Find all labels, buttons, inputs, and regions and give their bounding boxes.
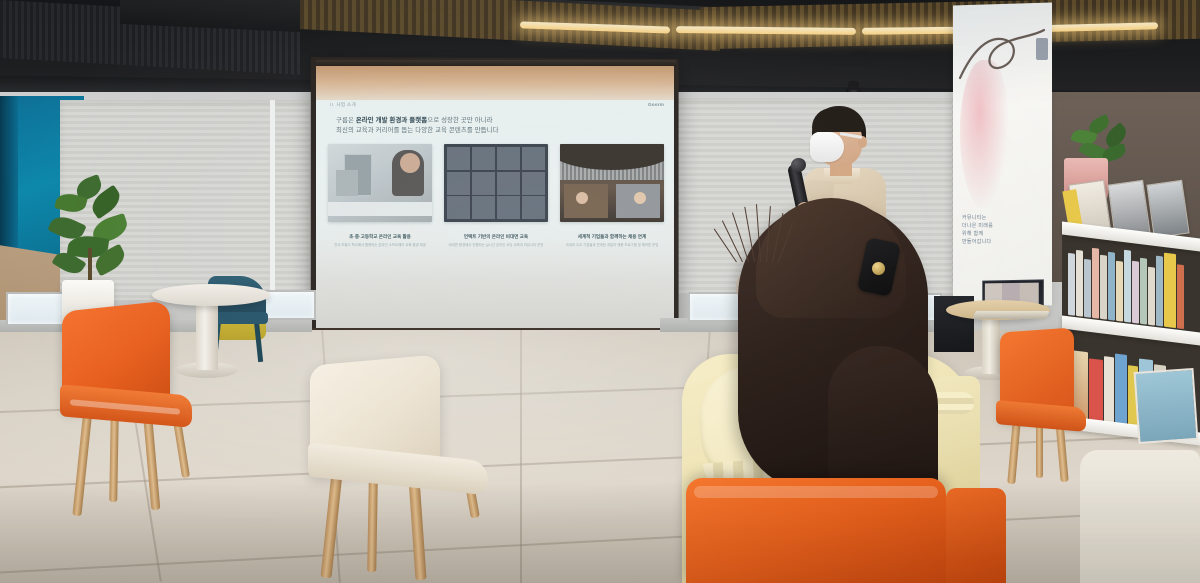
white-sofa — [1080, 450, 1200, 583]
slide-headline-line-2: 최신의 교육과 커리어를 돕는 다양한 교육 콘텐츠를 만듭니다 — [336, 126, 656, 136]
hair-clip-gem — [872, 262, 885, 275]
slide-thumbnail-1 — [328, 144, 432, 222]
round-table-left-top — [152, 284, 270, 306]
slide-caption-1: 초·중·고등학교 온라인 교육 활용 전국 초중고 학교에서 활용되는 온라인 … — [328, 234, 432, 248]
presentation-slide: II. 사업 소개 Goorm 구름은 온라인 개발 환경과 플랫폼으로 성장한… — [318, 96, 672, 282]
chair-leg — [367, 480, 378, 572]
slide-caption-2: 언택트 기반의 온라인 비대면 교육 비대면 환경에서 진행되는 실시간 온라인… — [444, 234, 548, 248]
slide-caption-3: 세계적 기업들과 함께하는 채용 연계 국내외 주요 기업들과 연계한 개발자 … — [560, 234, 664, 248]
orange-chair-foreground-right — [946, 488, 1006, 583]
caption-title: 언택트 기반의 온라인 비대면 교육 — [444, 234, 548, 240]
slide-eyebrow: II. 사업 소개 — [330, 102, 356, 108]
caption-body: 비대면 환경에서 진행되는 실시간 온라인 코딩 교육과 커뮤니티 운영 — [444, 243, 548, 248]
chair-highlight — [694, 486, 938, 498]
headline-pre: 구름은 — [336, 117, 356, 124]
caption-body: 전국 초중고 학교에서 활용되는 온라인 소프트웨어 교육 환경 제공 — [328, 243, 432, 248]
slide-thumbnail-2 — [444, 144, 548, 222]
display-picture-book — [1134, 368, 1199, 444]
caption-title: 세계적 기업들과 함께하는 채용 연계 — [560, 234, 664, 240]
presenter-hair-front — [812, 108, 864, 132]
book-row-upper — [1068, 241, 1184, 329]
flyaway-hair — [732, 200, 790, 262]
slide-thumbnail-row — [328, 144, 664, 230]
slide-caption-row: 초·중·고등학교 온라인 교육 활용 전국 초중고 학교에서 활용되는 온라인 … — [328, 234, 664, 248]
round-table-left-stem — [196, 296, 218, 370]
banner-swirl-icon — [958, 22, 1046, 92]
blind-seam — [270, 100, 275, 300]
headline-bold: 온라인 개발 환경과 플랫폼 — [356, 117, 427, 124]
chair-leg — [1036, 424, 1043, 478]
face-mask-icon — [810, 132, 844, 162]
seminar-room-photo: II. 사업 소개 Goorm 구름은 온라인 개발 환경과 플랫폼으로 성장한… — [0, 0, 1200, 583]
slide-headline: 구름은 온라인 개발 환경과 플랫폼으로 성장한 곳만 아니라 최신의 교육과 … — [336, 116, 656, 135]
headline-post: 으로 성장한 곳만 아니라 — [427, 117, 492, 124]
potted-plant — [46, 178, 138, 290]
slide-headline-line-1: 구름은 온라인 개발 환경과 플랫폼으로 성장한 곳만 아니라 — [336, 116, 656, 126]
chair-leg — [109, 412, 119, 502]
caption-title: 초·중·고등학교 온라인 교육 활용 — [328, 234, 432, 240]
banner-clip — [1036, 38, 1048, 60]
display-book — [1146, 180, 1189, 238]
slide-logo: Goorm — [648, 102, 664, 107]
slide-thumbnail-3 — [560, 144, 664, 222]
caption-body: 국내외 주요 기업들과 연계한 개발자 채용 프로그램 및 해커톤 운영 — [560, 243, 664, 248]
